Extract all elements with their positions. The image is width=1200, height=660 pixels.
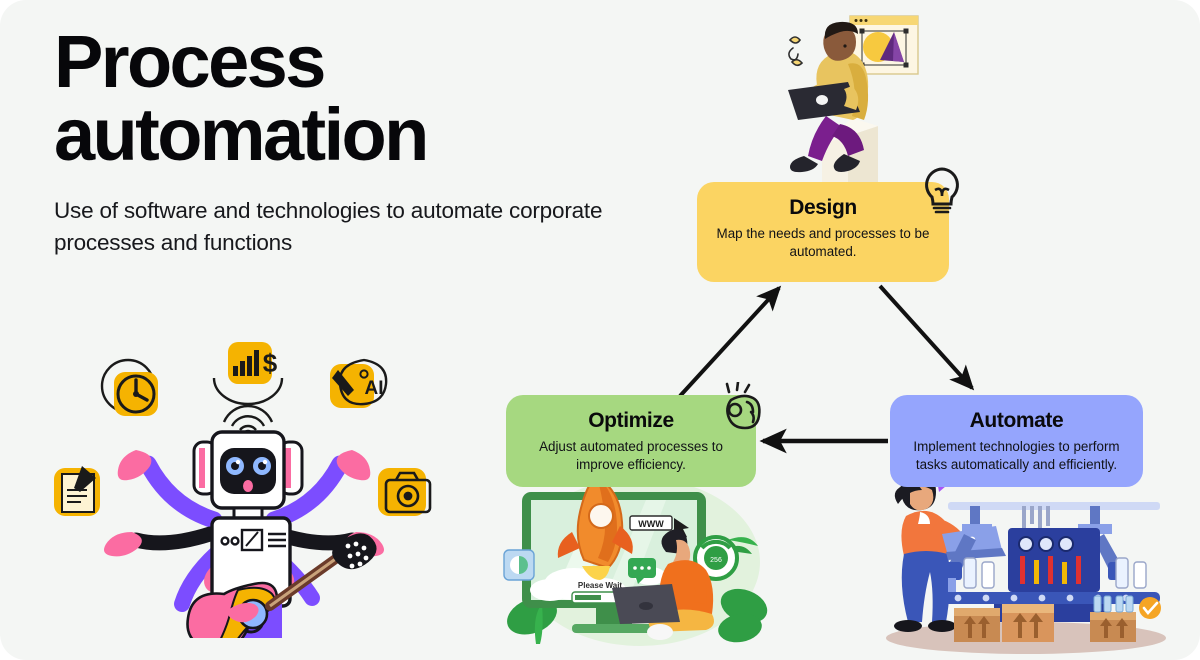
check-badge-icon	[1139, 597, 1161, 619]
dollar-label: $	[263, 348, 278, 378]
address-bar-label: WWW	[638, 519, 664, 529]
sparkle-idea-icon	[789, 37, 802, 65]
automate-illustration	[876, 462, 1168, 654]
camera-icon	[378, 468, 430, 516]
arrow-optimize-to-design	[680, 288, 779, 396]
card-optimize[interactable]: Optimize Adjust automated processes to i…	[506, 395, 756, 487]
card-automate-title: Automate	[908, 409, 1125, 433]
ai-label: AI	[365, 378, 384, 399]
design-illustration	[752, 4, 932, 198]
card-automate[interactable]: Automate Implement technologies to perfo…	[890, 395, 1143, 487]
card-optimize-description: Adjust automated processes to improve ef…	[524, 438, 738, 474]
clock-icon	[102, 360, 158, 416]
arrow-design-to-automate	[880, 286, 972, 388]
card-design[interactable]: Design Map the needs and processes to be…	[697, 182, 949, 282]
document-pencil-icon	[54, 466, 100, 516]
optimize-illustration: WWW Please Wait 256	[500, 466, 772, 652]
card-automate-description: Implement technologies to perform tasks …	[908, 438, 1125, 474]
globe-tile-icon	[504, 550, 534, 580]
gauge-label: 256	[710, 557, 722, 564]
card-optimize-title: Optimize	[524, 409, 738, 433]
card-design-title: Design	[715, 196, 931, 220]
card-design-description: Map the needs and processes to be automa…	[715, 225, 931, 261]
palette-ai-icon: AI	[330, 360, 386, 408]
robot-head	[194, 432, 302, 518]
chart-dollar-icon: $	[214, 342, 282, 404]
infographic-canvas: Process automation Use of software and t…	[0, 0, 1200, 660]
robot-illustration: $ AI	[42, 338, 446, 638]
